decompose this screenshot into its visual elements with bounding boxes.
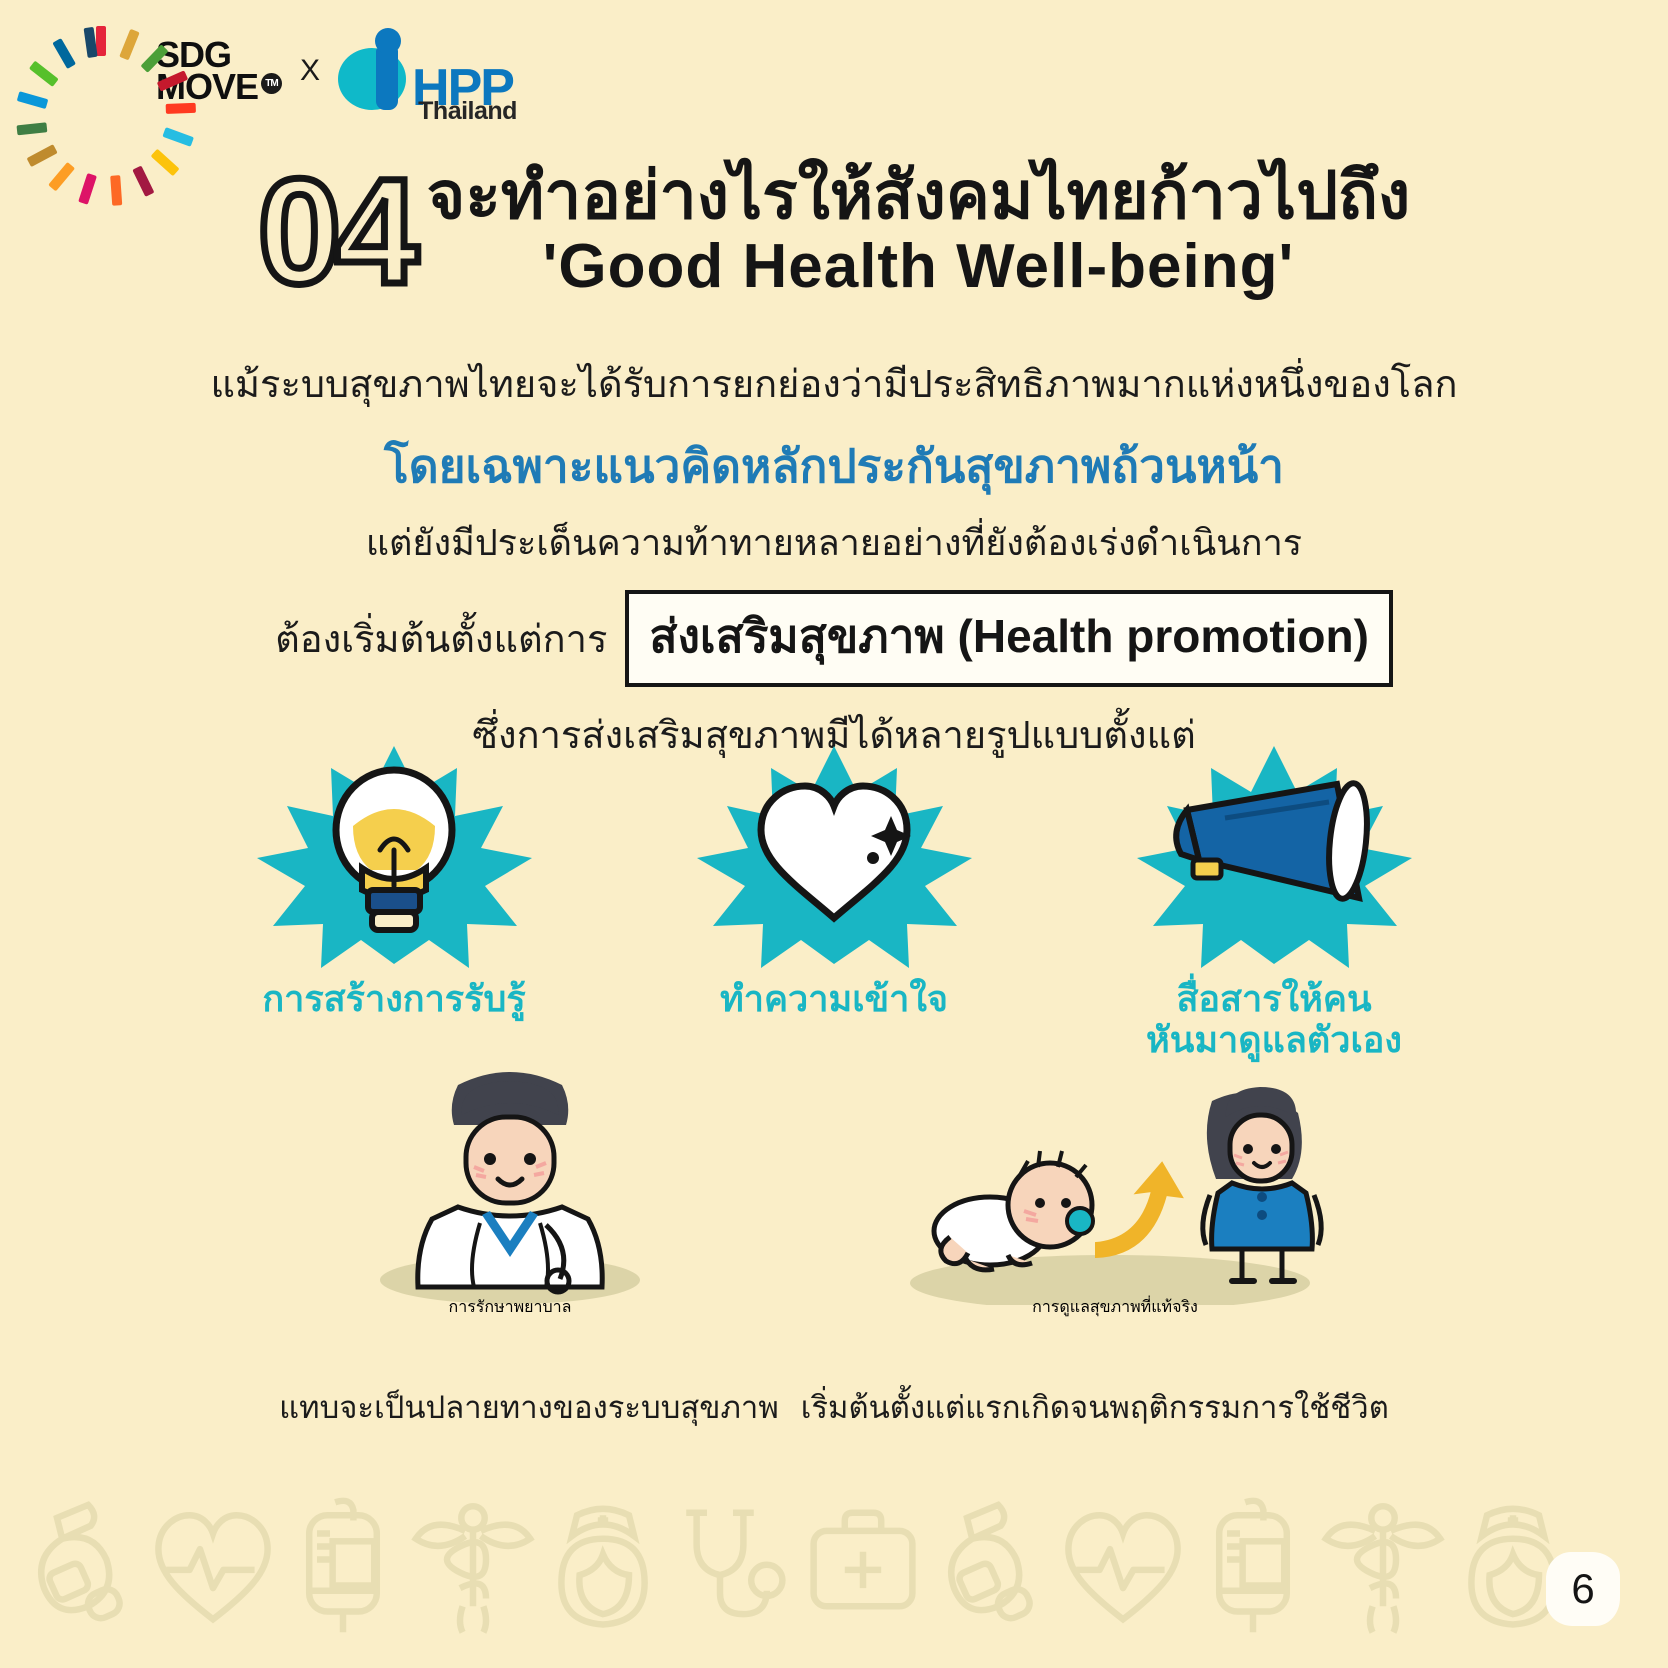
heart-pulse-icon: [1058, 1491, 1188, 1641]
brand-logos: SDG MOVETM X HPP Thailand: [58, 28, 513, 114]
headline: 04 จะทำอย่างไรให้สังคมไทยก้าวไปถึง 'Good…: [0, 160, 1668, 306]
decorative-pattern-band: [0, 1463, 1668, 1668]
nurse-icon: [538, 1491, 668, 1641]
first-aid-kit-icon: [798, 1491, 928, 1641]
section-number: 04: [258, 156, 413, 306]
family-caption: การดูแลสุขภาพที่แท้จริง: [880, 1295, 1350, 1320]
method-awareness: การสร้างการรับรู้: [229, 740, 559, 1061]
heart-icon: [689, 740, 979, 970]
doctor-subcaption: แทบจะเป็นปลายทางของระบบสุขภาพ: [279, 1390, 779, 1426]
lightbulb-icon: [249, 740, 539, 970]
sdg-wheel-icon: [58, 28, 144, 114]
collaboration-symbol: X: [300, 54, 320, 88]
stethoscope-icon: [668, 1491, 798, 1641]
method-understanding: ทำความเข้าใจ: [669, 740, 999, 1061]
doctor-icon: [330, 1055, 690, 1305]
boxed-prefix: ต้องเริ่มต้นตั้งแต่การ: [275, 608, 607, 669]
doctor-illustration: [330, 1055, 690, 1305]
caduceus-icon: [1318, 1491, 1448, 1641]
health-promotion-box: ส่งเสริมสุขภาพ (Health promotion): [625, 590, 1393, 687]
body-text: แม้ระบบสุขภาพไทยจะได้รับการยกย่องว่ามีปร…: [0, 360, 1668, 762]
ihpp-country-label: Thailand: [418, 97, 517, 126]
mother-and-baby-icon: [900, 1055, 1330, 1305]
infographic-slide: SDG MOVETM X HPP Thailand 04 จะทำอย่างไร…: [0, 0, 1668, 1668]
illustration-subcaptions: แทบจะเป็นปลายทางของระบบสุขภาพ เริ่มต้นตั…: [0, 1390, 1668, 1426]
megaphone-icon: [1129, 740, 1419, 970]
heart-pulse-icon: [148, 1491, 278, 1641]
health-promotion-row: ต้องเริ่มต้นตั้งแต่การ ส่งเสริมสุขภาพ (H…: [0, 590, 1668, 687]
headline-thai: จะทำอย่างไรให้สังคมไทยก้าวไปถึง: [427, 160, 1411, 231]
iv-bag-icon: [1188, 1491, 1318, 1641]
method-understanding-label: ทำความเข้าใจ: [669, 978, 999, 1019]
mother-baby-illustration: [900, 1055, 1330, 1305]
pills-bottle-icon: [18, 1491, 148, 1641]
ihpp-i-icon: [338, 32, 416, 110]
body-line-1: แม้ระบบสุขภาพไทยจะได้รับการยกย่องว่ามีปร…: [0, 360, 1668, 411]
trademark-icon: TM: [261, 73, 282, 94]
family-subcaption: เริ่มต้นตั้งแต่แรกเกิดจนพฤติกรรมการใช้ชี…: [801, 1390, 1389, 1426]
method-awareness-label: การสร้างการรับรู้: [229, 978, 559, 1019]
body-line-3: แต่ยังมีประเด็นความท้าทายหลายอย่างที่ยัง…: [0, 519, 1668, 568]
doctor-caption: การรักษาพยาบาล: [300, 1295, 720, 1320]
method-communication: สื่อสารให้คน หันมาดูแลตัวเอง: [1109, 740, 1439, 1061]
page-number-badge: 6: [1546, 1552, 1620, 1626]
label-line-1: สื่อสารให้คน: [1176, 978, 1371, 1019]
ihpp-logo: HPP Thailand: [338, 32, 513, 110]
promotion-methods: การสร้างการรับรู้ ทำความเข้าใจ: [0, 740, 1668, 1061]
headline-english: 'Good Health Well-being': [427, 233, 1411, 301]
sdg-move-wordmark: SDG MOVETM: [156, 39, 282, 102]
body-line-2-highlight: โดยเฉพาะแนวคิดหลักประกันสุขภาพถ้วนหน้า: [0, 435, 1668, 497]
caduceus-icon: [408, 1491, 538, 1641]
pills-bottle-icon: [928, 1491, 1058, 1641]
iv-bag-icon: [278, 1491, 408, 1641]
method-communication-label: สื่อสารให้คน หันมาดูแลตัวเอง: [1109, 978, 1439, 1061]
